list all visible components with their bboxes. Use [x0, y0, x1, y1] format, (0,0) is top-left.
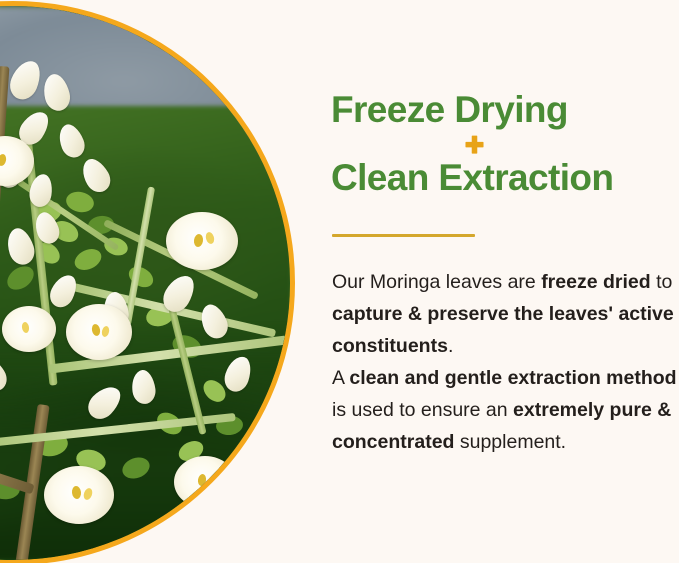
- p1-text-1: Our Moringa leaves are: [332, 271, 541, 293]
- p2-text-2: is used to ensure an: [332, 399, 513, 421]
- product-feature-banner: Freeze Drying Clean Extraction Our Morin…: [0, 0, 679, 563]
- p2-text-3: supplement.: [454, 431, 566, 453]
- moringa-flowers-photo: [0, 1, 295, 563]
- headline-line-1: Freeze Drying: [331, 88, 679, 132]
- content-panel: Freeze Drying Clean Extraction Our Morin…: [331, 0, 679, 563]
- plus-separator: [331, 132, 617, 156]
- body-paragraph-2: A clean and gentle extraction method is …: [332, 362, 679, 458]
- photo-image-area: [0, 6, 290, 560]
- p1-bold-2: capture & preserve the leaves' active co…: [332, 303, 674, 357]
- plus-icon: [465, 135, 484, 154]
- p1-text-2: to: [651, 271, 673, 293]
- p1-bold-1: freeze dried: [541, 271, 650, 293]
- p2-bold-1: clean and gentle extraction method: [349, 367, 676, 389]
- gold-divider: [332, 234, 475, 237]
- headline-line-2: Clean Extraction: [331, 156, 679, 200]
- body-copy: Our Moringa leaves are freeze dried to c…: [332, 266, 679, 458]
- p2-text-1: A: [332, 367, 349, 389]
- headline-block: Freeze Drying Clean Extraction: [331, 88, 679, 200]
- p1-text-3: .: [448, 335, 453, 357]
- body-paragraph-1: Our Moringa leaves are freeze dried to c…: [332, 266, 679, 362]
